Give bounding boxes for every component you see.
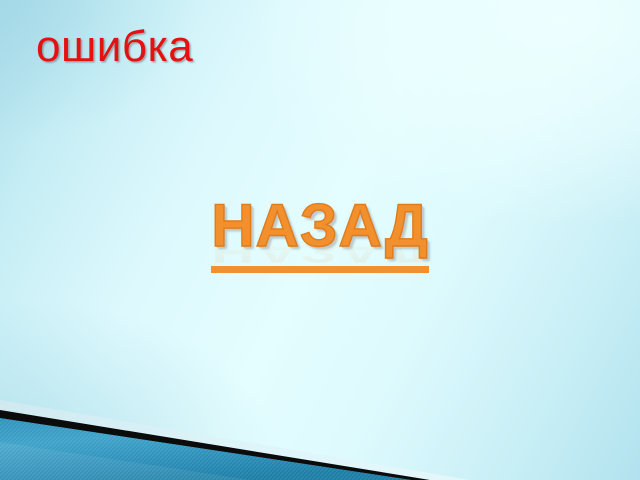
slide-title: ошибка	[36, 22, 556, 71]
back-button-container[interactable]: НАЗАД	[0, 196, 640, 273]
back-button-label[interactable]: НАЗАД	[211, 196, 429, 273]
slide-canvas: ошибка НАЗАД НАЗАД	[0, 0, 640, 480]
